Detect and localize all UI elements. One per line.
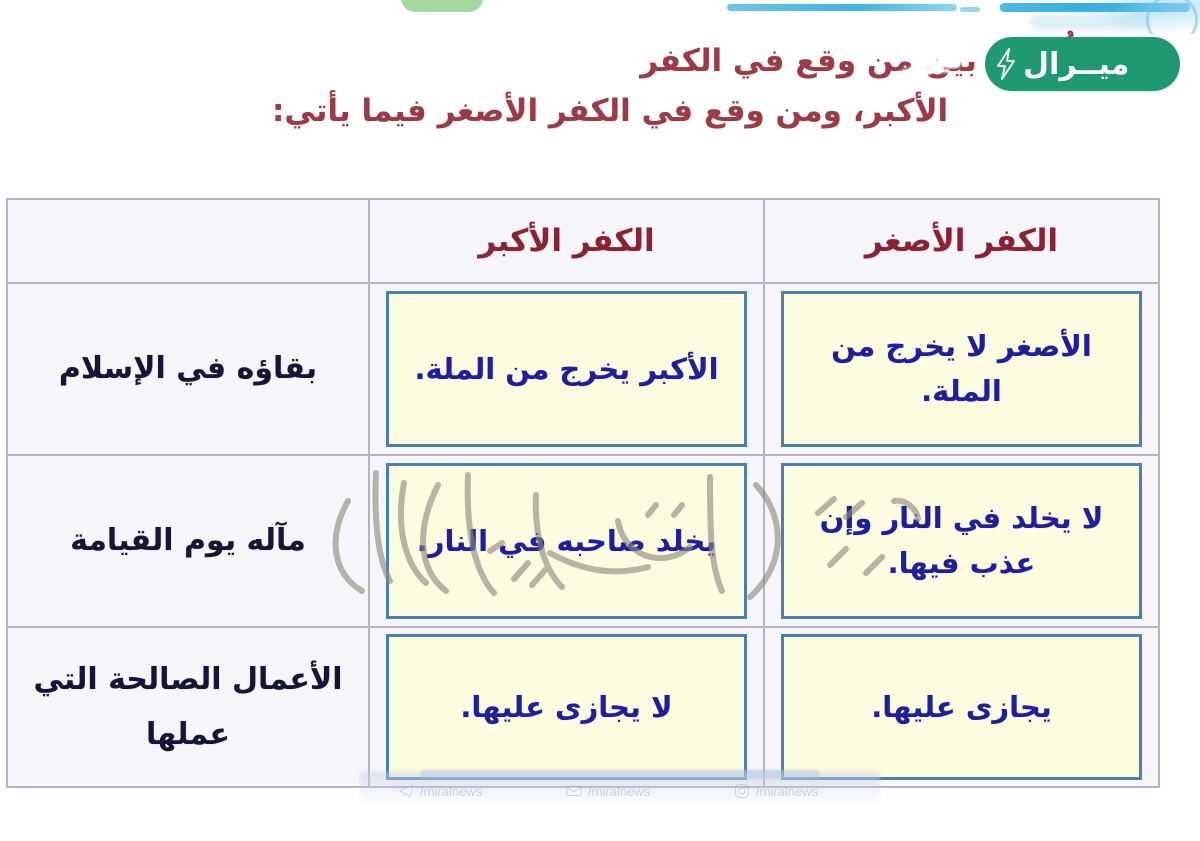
cell-major-1-wrap: الأكبر يخرج من الملة.: [370, 285, 763, 453]
cell-minor-1-wrap: الأصغر لا يخرج من الملة.: [765, 285, 1158, 453]
cell-label-3-text: الأعمال الصالحة التي عملها: [24, 652, 352, 763]
comparison-table: الكفر الأصغر الكفر الأكبر الأصغر لا يخرج…: [6, 198, 1160, 788]
cell-label-2-wrap: مآله يوم القيامة: [8, 507, 368, 575]
mail-icon: [566, 783, 582, 799]
cell-label-2: مآله يوم القيامة: [7, 455, 369, 627]
table-row: يجازى عليها. لا يجازى عليها. الأعمال الص…: [7, 627, 1159, 787]
social-handle-telegram: /miralnews: [420, 784, 482, 799]
cell-minor-1-text: الأصغر لا يخرج من الملة.: [781, 291, 1142, 447]
instagram-icon: [734, 783, 750, 799]
brand-name-primary: ميــرال: [1023, 47, 1129, 82]
cell-minor-2-wrap: لا يخلد في النار وإن عذب فيها.: [765, 457, 1158, 625]
blue-circle-decoration: [1146, 0, 1198, 34]
top-decorative-banner: [0, 0, 1200, 34]
brand-name-secondary: نيوز: [903, 40, 963, 75]
table-row: لا يخلد في النار وإن عذب فيها. يخلد صاحب…: [7, 455, 1159, 627]
lightning-bolt-icon: [995, 48, 1017, 80]
cell-label-1-wrap: بقاؤه في الإسلام: [8, 335, 368, 403]
footer-divider-bar: [420, 770, 820, 779]
social-handle-mail: /miralnews: [588, 784, 650, 799]
cell-major-2-text: يخلد صاحبه في النار.: [386, 463, 747, 619]
table-body: الأصغر لا يخرج من الملة. الأكبر يخرج من …: [7, 283, 1159, 787]
cell-major-2-wrap: يخلد صاحبه في النار.: [370, 457, 763, 625]
blue-brush-stroke-2: [960, 7, 980, 12]
cell-minor-3-wrap: يجازى عليها.: [765, 628, 1158, 786]
social-footer: /miralnews /miralnews /miralnews: [398, 780, 818, 802]
cell-major-2: يخلد صاحبه في النار.: [369, 455, 764, 627]
table-header: الكفر الأصغر الكفر الأكبر: [7, 199, 1159, 283]
cell-minor-1: الأصغر لا يخرج من الملة.: [764, 283, 1159, 455]
social-handle-instagram: /miralnews: [756, 784, 818, 799]
cell-label-2-text: مآله يوم القيامة: [24, 513, 352, 569]
telegram-icon: [398, 783, 414, 799]
table-row: الأصغر لا يخرج من الملة. الأكبر يخرج من …: [7, 283, 1159, 455]
cell-minor-2: لا يخلد في النار وإن عذب فيها.: [764, 455, 1159, 627]
cell-label-3: الأعمال الصالحة التي عملها: [7, 627, 369, 787]
table-header-row: الكفر الأصغر الكفر الأكبر: [7, 199, 1159, 283]
column-header-minor-kufr-label: الكفر الأصغر: [765, 223, 1158, 259]
column-header-major-kufr-label: الكفر الأكبر: [370, 223, 763, 259]
cell-label-3-wrap: الأعمال الصالحة التي عملها: [8, 646, 368, 769]
brand-badge[interactable]: ميــرال: [985, 37, 1180, 91]
cell-major-3-text: لا يجازى عليها.: [386, 634, 747, 780]
heading-line-2: الأكبر، ومن وقع في الكفر الأصغر فيما يأت…: [40, 86, 1164, 136]
cell-major-3-wrap: لا يجازى عليها.: [370, 628, 763, 786]
column-header-major-kufr: الكفر الأكبر: [369, 199, 764, 283]
blue-brush-stroke-1: [727, 4, 957, 11]
column-header-minor-kufr: الكفر الأصغر: [764, 199, 1159, 283]
cell-major-3: لا يجازى عليها.: [369, 627, 764, 787]
column-header-criteria: [7, 199, 369, 283]
cell-major-1-text: الأكبر يخرج من الملة.: [386, 291, 747, 447]
cell-label-1-text: بقاؤه في الإسلام: [24, 341, 352, 397]
social-link-telegram[interactable]: /miralnews: [398, 783, 482, 799]
cell-major-1: الأكبر يخرج من الملة.: [369, 283, 764, 455]
social-link-instagram[interactable]: /miralnews: [734, 783, 818, 799]
social-link-mail[interactable]: /miralnews: [566, 783, 650, 799]
green-tab-decoration: [401, 0, 483, 12]
cell-minor-3-text: يجازى عليها.: [781, 634, 1142, 780]
cell-minor-2-text: لا يخلد في النار وإن عذب فيها.: [781, 463, 1142, 619]
cell-minor-3: يجازى عليها.: [764, 627, 1159, 787]
cell-label-1: بقاؤه في الإسلام: [7, 283, 369, 455]
